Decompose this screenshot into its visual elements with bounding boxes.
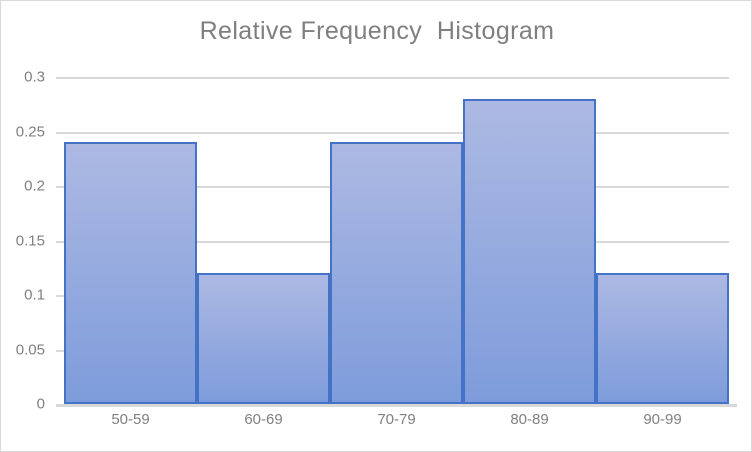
y-tick-label-4: 0.2 bbox=[1, 178, 45, 195]
bar-cell-0 bbox=[64, 77, 197, 404]
plot-area bbox=[64, 77, 729, 404]
x-tick-label-4: 90-99 bbox=[596, 411, 729, 428]
histogram-bar[interactable] bbox=[463, 99, 596, 404]
bar-cell-1 bbox=[197, 77, 330, 404]
x-tick-label-1: 60-69 bbox=[197, 411, 330, 428]
y-tick-label-3: 0.15 bbox=[1, 232, 45, 249]
histogram-bar[interactable] bbox=[330, 142, 463, 404]
y-tick-label-1: 0.05 bbox=[1, 341, 45, 358]
x-tick-label-0: 50-59 bbox=[64, 411, 197, 428]
x-axis-line bbox=[56, 404, 737, 407]
bar-series bbox=[64, 77, 729, 404]
histogram-bar[interactable] bbox=[596, 273, 729, 404]
y-tick-label-6: 0.3 bbox=[1, 69, 45, 86]
relative-frequency-histogram-chart: Relative Frequency Histogram 0 0.05 0.1 … bbox=[0, 0, 752, 452]
histogram-bar[interactable] bbox=[197, 273, 330, 404]
bar-cell-2 bbox=[330, 77, 463, 404]
x-axis-labels: 50-59 60-69 70-79 80-89 90-99 bbox=[64, 411, 729, 428]
histogram-bar[interactable] bbox=[64, 142, 197, 404]
y-tick-label-0: 0 bbox=[1, 396, 45, 413]
y-tick-label-5: 0.25 bbox=[1, 123, 45, 140]
y-tick-label-2: 0.1 bbox=[1, 287, 45, 304]
bar-cell-4 bbox=[596, 77, 729, 404]
chart-title: Relative Frequency Histogram bbox=[1, 17, 752, 46]
x-tick-label-3: 80-89 bbox=[463, 411, 596, 428]
x-tick-label-2: 70-79 bbox=[330, 411, 463, 428]
bar-cell-3 bbox=[463, 77, 596, 404]
